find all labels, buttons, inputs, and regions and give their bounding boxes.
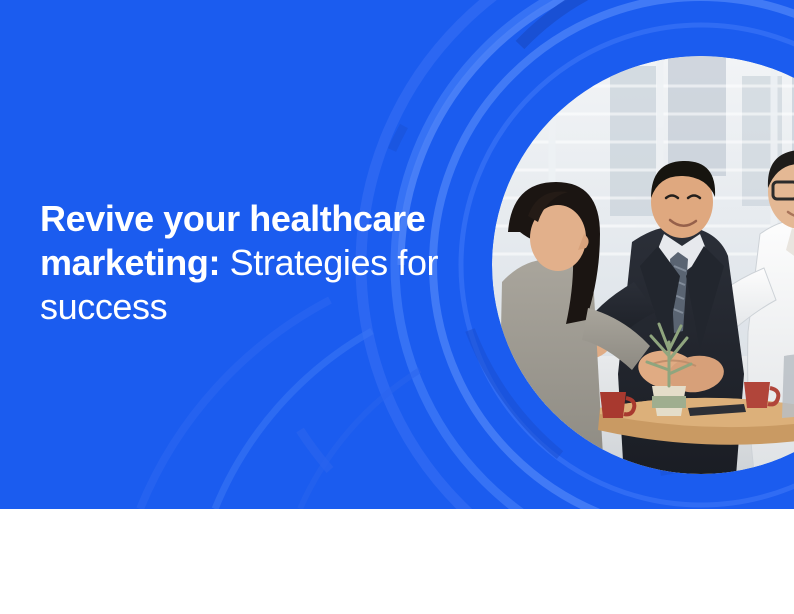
footer: Constant Contact HEALTHCAREDIVE Custom c…	[0, 509, 794, 614]
hero-section: Revive your healthcare marketing: Strate…	[0, 0, 794, 509]
marketing-banner: Revive your healthcare marketing: Strate…	[0, 0, 794, 614]
headline: Revive your healthcare marketing: Strate…	[40, 197, 470, 329]
